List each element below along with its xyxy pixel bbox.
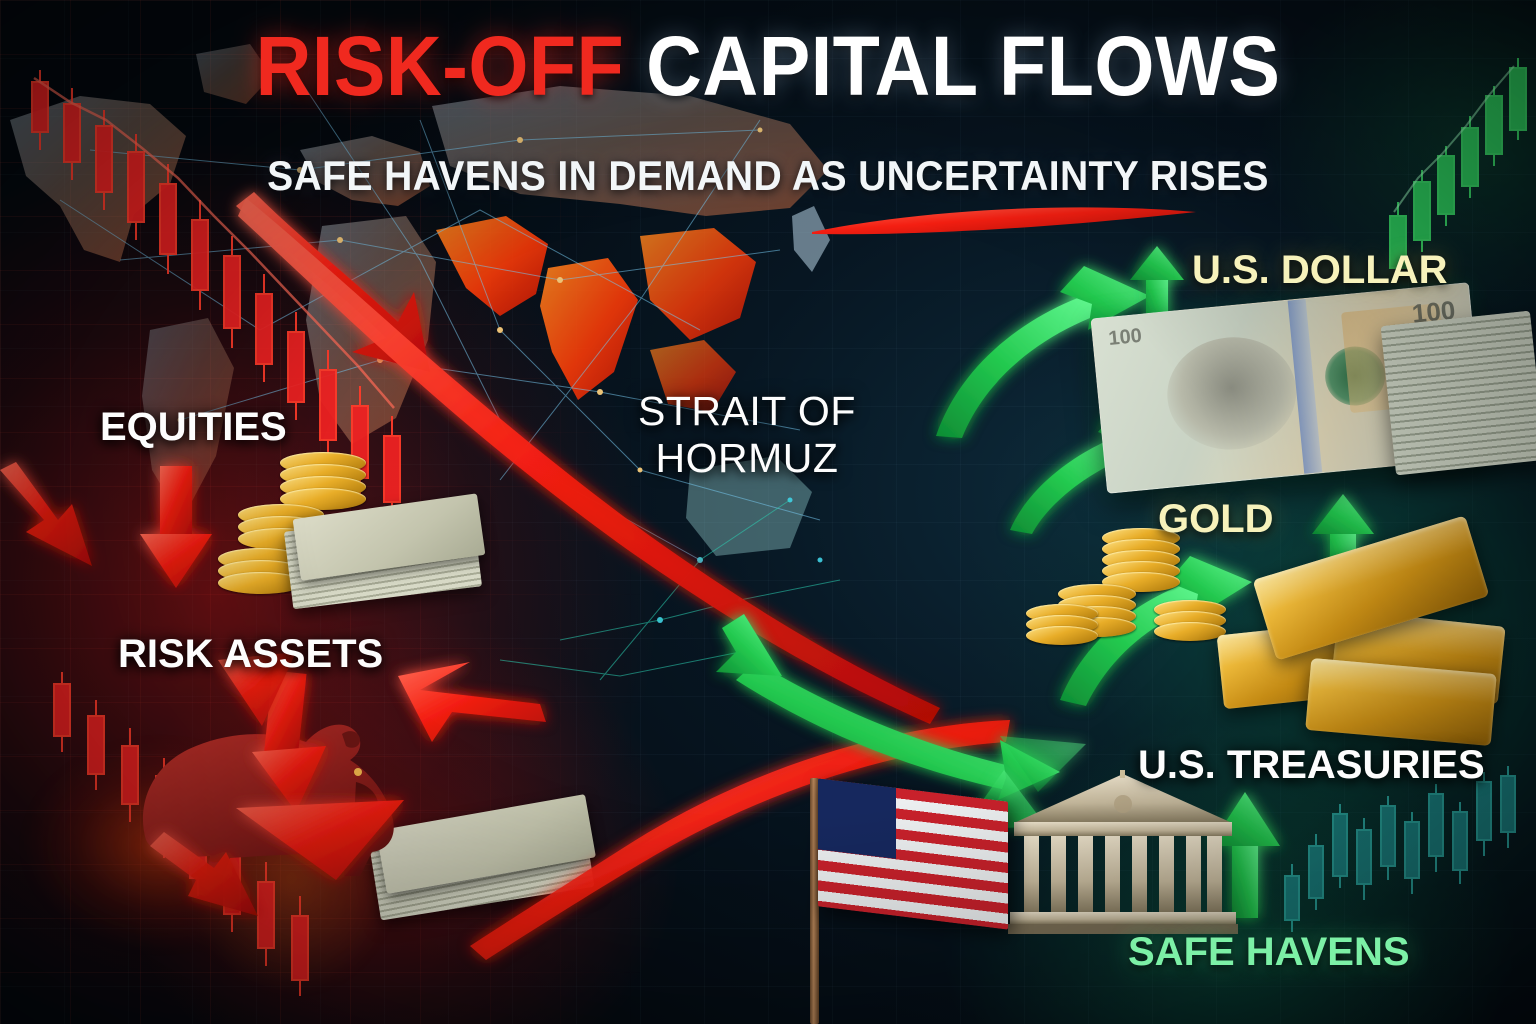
hormuz-line-1: STRAIT OF	[638, 388, 856, 434]
hormuz-line-2: HORMUZ	[655, 435, 838, 481]
label-gold: GOLD	[1158, 497, 1274, 542]
label-equities: EQUITIES	[100, 405, 287, 450]
page-title: RISK-OFF CAPITAL FLOWS	[61, 24, 1474, 108]
infographic-poster: 100 100	[0, 0, 1536, 1024]
label-us-dollar: U.S. DOLLAR	[1192, 248, 1448, 293]
label-safe-havens: SAFE HAVENS	[1128, 930, 1410, 975]
label-risk-assets: RISK ASSETS	[118, 632, 383, 677]
label-us-treasuries: U.S. TREASURIES	[1138, 743, 1485, 788]
label-strait-of-hormuz: STRAIT OF HORMUZ	[638, 388, 856, 482]
title-risk-off: RISK-OFF	[256, 19, 625, 113]
page-subtitle: SAFE HAVENS IN DEMAND AS UNCERTAINTY RIS…	[54, 152, 1482, 200]
title-capital-flows: CAPITAL FLOWS	[646, 19, 1280, 113]
